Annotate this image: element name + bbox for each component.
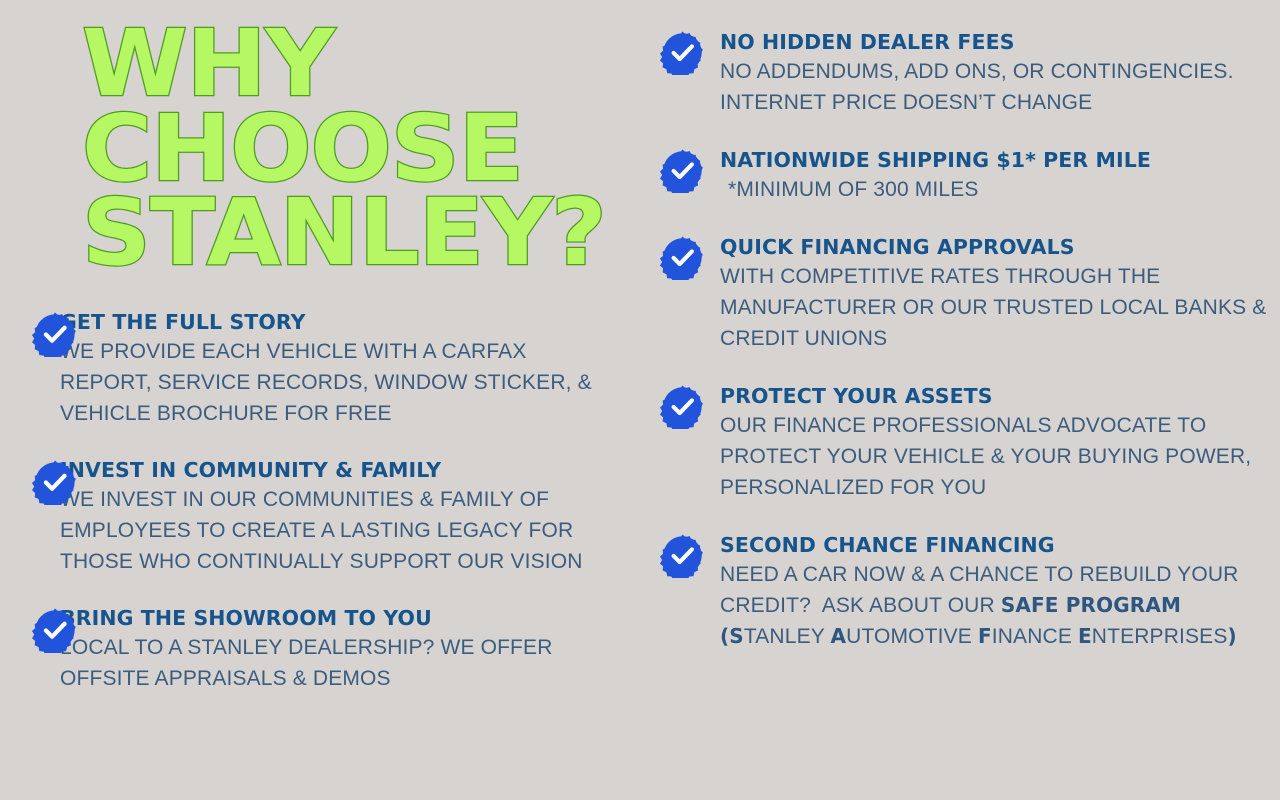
feature-title: GET THE FULL STORY bbox=[60, 308, 620, 336]
check-badge-icon bbox=[660, 533, 705, 578]
feature-item-invest-in-community-and-family: INVEST IN COMMUNITY & FAMILY WE INVEST I… bbox=[0, 456, 620, 578]
feature-item-second-chance-financing: SECOND CHANCE FINANCING NEED A CAR NOW &… bbox=[648, 531, 1280, 653]
feature-body: WE INVEST IN OUR COMMUNITIES & FAMILY OF… bbox=[60, 485, 620, 578]
page-title: WHY CHOOSE STANLEY? bbox=[82, 22, 623, 276]
feature-title: SECOND CHANCE FINANCING bbox=[720, 531, 1280, 559]
feature-title: NO HIDDEN DEALER FEES bbox=[720, 28, 1280, 56]
check-badge-icon bbox=[32, 459, 78, 505]
feature-item-get-the-full-story: GET THE FULL STORY WE PROVIDE EACH VEHIC… bbox=[0, 308, 620, 430]
feature-title: QUICK FINANCING APPROVALS bbox=[720, 233, 1280, 261]
feature-body: NO ADDENDUMS, ADD ONS, OR CONTINGENCIES.… bbox=[720, 57, 1280, 119]
feature-title: INVEST IN COMMUNITY & FAMILY bbox=[60, 456, 620, 484]
feature-title: BRING THE SHOWROOM TO YOU bbox=[60, 604, 620, 632]
check-badge-icon bbox=[32, 607, 78, 653]
feature-body: NEED A CAR NOW & A CHANCE TO REBUILD YOU… bbox=[720, 560, 1280, 653]
feature-item-quick-financing-approvals: QUICK FINANCING APPROVALS WITH COMPETITI… bbox=[648, 233, 1280, 355]
right-feature-column: NO HIDDEN DEALER FEES NO ADDENDUMS, ADD … bbox=[648, 28, 1280, 653]
check-badge-icon bbox=[660, 235, 705, 280]
check-badge-icon bbox=[32, 311, 78, 357]
feature-body: LOCAL TO A STANLEY DEALERSHIP? WE OFFER … bbox=[60, 633, 620, 695]
feature-body: WE PROVIDE EACH VEHICLE WITH A CARFAX RE… bbox=[60, 337, 620, 430]
check-badge-icon bbox=[660, 30, 705, 75]
check-badge-icon bbox=[660, 148, 705, 193]
feature-body: WITH COMPETITIVE RATES THROUGH THE MANUF… bbox=[720, 262, 1280, 355]
why-choose-stanley-poster: WHY CHOOSE STANLEY? GET THE FULL STORY W… bbox=[0, 0, 1280, 800]
feature-item-nationwide-shipping: NATIONWIDE SHIPPING $1* PER MILE *MINIMU… bbox=[648, 146, 1280, 206]
feature-title: NATIONWIDE SHIPPING $1* PER MILE bbox=[720, 146, 1280, 174]
feature-item-protect-your-assets: PROTECT YOUR ASSETS OUR FINANCE PROFESSI… bbox=[648, 382, 1280, 504]
left-feature-column: GET THE FULL STORY WE PROVIDE EACH VEHIC… bbox=[0, 308, 620, 695]
feature-title: PROTECT YOUR ASSETS bbox=[720, 382, 1280, 410]
feature-body: *MINIMUM OF 300 MILES bbox=[720, 175, 1280, 206]
feature-item-bring-the-showroom-to-you: BRING THE SHOWROOM TO YOU LOCAL TO A STA… bbox=[0, 604, 620, 695]
check-badge-icon bbox=[660, 384, 705, 429]
feature-body: OUR FINANCE PROFESSIONALS ADVOCATE TO PR… bbox=[720, 411, 1280, 504]
feature-item-no-hidden-dealer-fees: NO HIDDEN DEALER FEES NO ADDENDUMS, ADD … bbox=[648, 28, 1280, 119]
